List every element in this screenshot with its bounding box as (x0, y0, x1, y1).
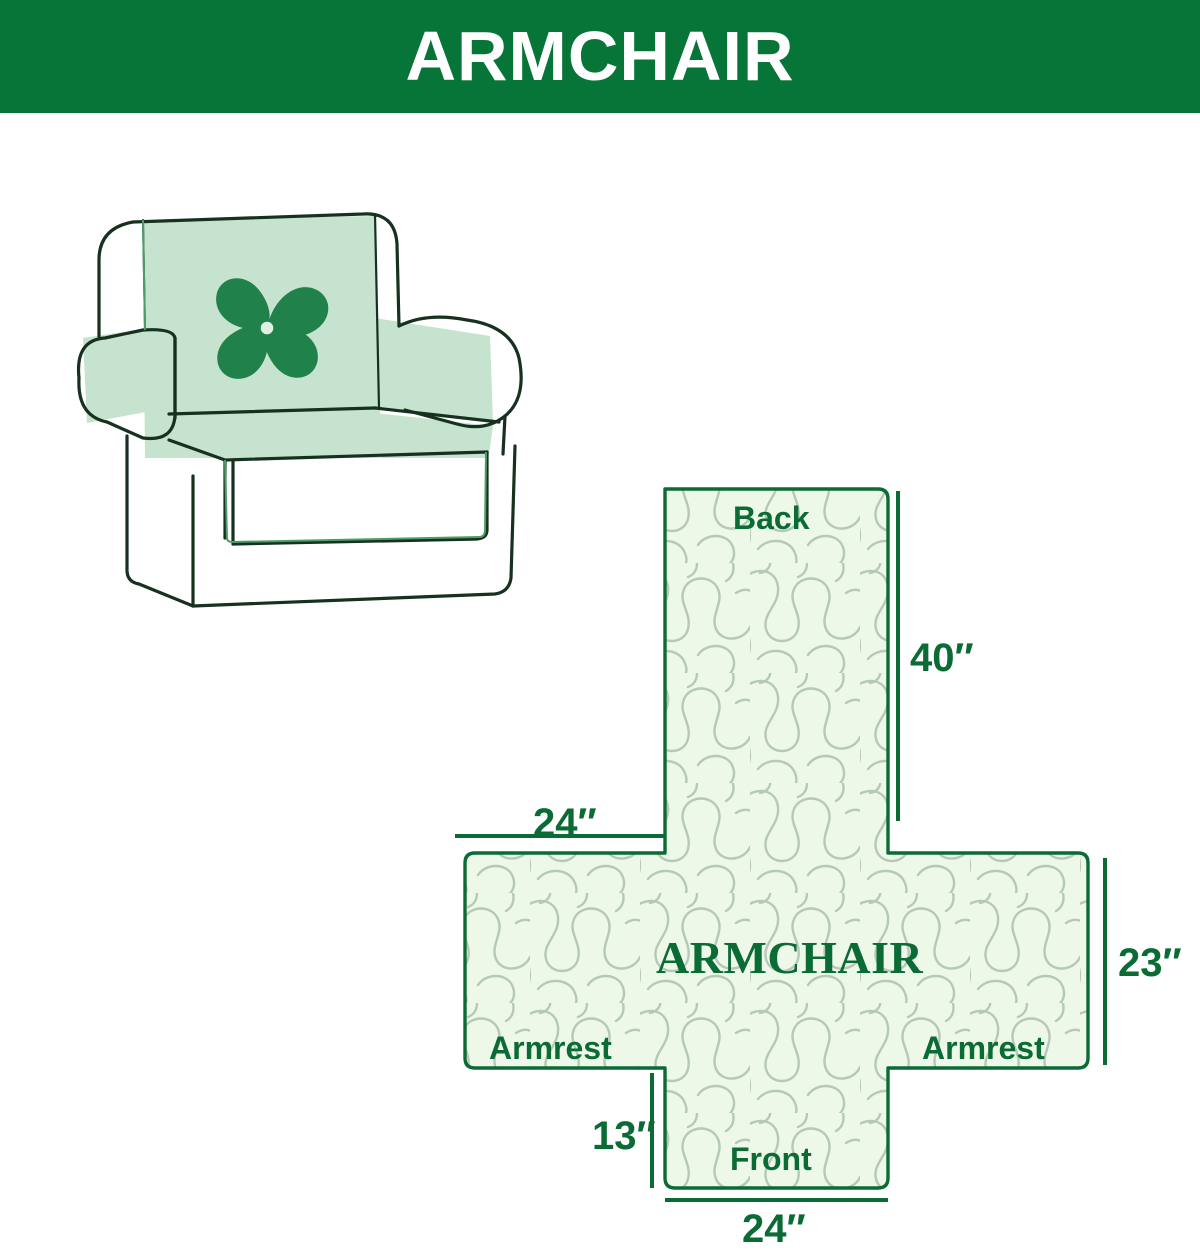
dimension-front-height: 13″ (592, 1116, 656, 1156)
panel-label-back: Back (733, 502, 810, 534)
page-title: ARMCHAIR (405, 21, 794, 91)
dimension-front-width: 24″ (742, 1209, 806, 1249)
dimension-back-height: 40″ (910, 638, 974, 678)
panel-label-armrest-right: Armrest (922, 1032, 1045, 1064)
header-banner: ARMCHAIR (0, 0, 1200, 113)
panel-label-front: Front (730, 1143, 812, 1175)
dimension-back-width: 24″ (533, 803, 597, 843)
dimension-body-height: 23″ (1118, 943, 1182, 983)
panel-label-center: ARMCHAIR (656, 935, 923, 981)
cross-pattern-diagram (420, 343, 1180, 1213)
panel-label-armrest-left: Armrest (489, 1032, 612, 1064)
diagram-stage: Back Armrest ARMCHAIR Armrest Front 40″ … (0, 113, 1200, 1200)
